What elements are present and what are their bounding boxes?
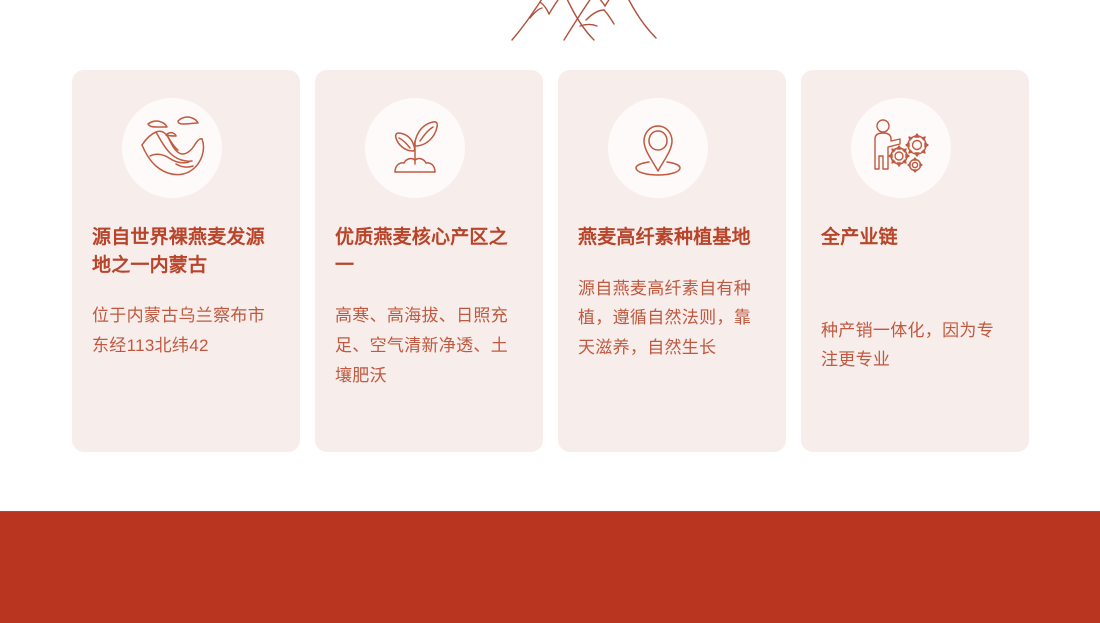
feature-card-body: 种产销一体化，因为专注更专业 [821,316,1009,376]
feature-card-body: 源自燕麦高纤素自有种植，遵循自然法则，靠天滋养，自然生长 [578,274,766,363]
feature-card-title: 燕麦高纤素种植基地 [578,224,766,252]
mountain-landscape-icon [122,98,222,198]
red-footer-band [0,512,1100,623]
feature-card-planting-base[interactable]: 燕麦高纤素种植基地 源自燕麦高纤素自有种植，遵循自然法则，靠天滋养，自然生长 [558,70,786,452]
feature-cards-row: 源自世界裸燕麦发源地之一内蒙古 位于内蒙古乌兰察布市东经113北纬42 [72,70,1029,452]
feature-card-full-chain[interactable]: 全产业链 种产销一体化，因为专注更专业 [801,70,1029,452]
page-root: 源自世界裸燕麦发源地之一内蒙古 位于内蒙古乌兰察布市东经113北纬42 [0,0,1100,623]
mountain-range-sketch-icon [494,0,664,44]
feature-card-title: 源自世界裸燕麦发源地之一内蒙古 [92,224,280,279]
location-pin-icon [608,98,708,198]
feature-card-core-region[interactable]: 优质燕麦核心产区之一 高寒、高海拔、日照充足、空气清新净透、土壤肥沃 [315,70,543,452]
person-gears-icon [851,98,951,198]
feature-card-body: 高寒、高海拔、日照充足、空气清新净透、土壤肥沃 [335,301,523,390]
feature-card-body: 位于内蒙古乌兰察布市东经113北纬42 [92,301,280,361]
feature-card-title: 优质燕麦核心产区之一 [335,224,523,279]
feature-card-origin[interactable]: 源自世界裸燕麦发源地之一内蒙古 位于内蒙古乌兰察布市东经113北纬42 [72,70,300,452]
feature-card-title: 全产业链 [821,224,1009,252]
sprout-icon [365,98,465,198]
